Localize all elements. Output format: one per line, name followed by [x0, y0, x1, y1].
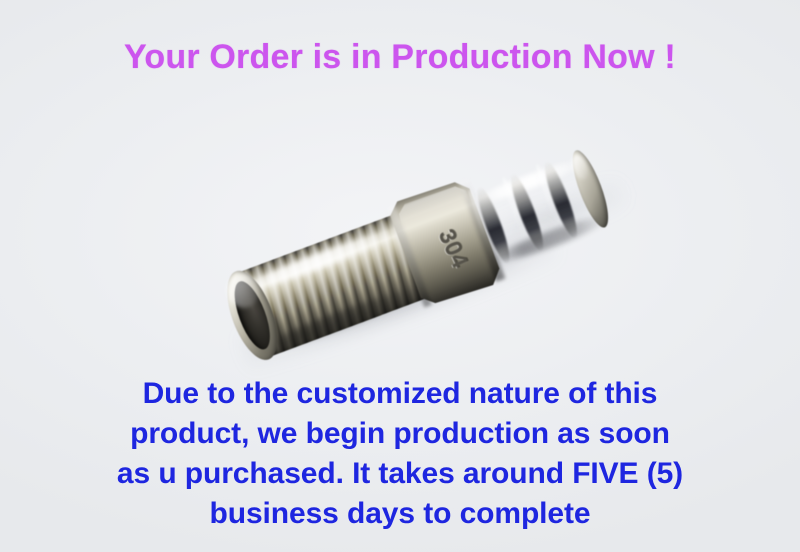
page-title: Your Order is in Production Now ! — [0, 38, 800, 77]
product-photo: 304 — [205, 142, 620, 370]
production-notice: Due to the customized nature of this pro… — [0, 374, 800, 534]
hose-barb-fitting: 304 — [226, 133, 612, 372]
notice-line-2: product, we begin production as soon — [0, 414, 800, 454]
notice-line-1: Due to the customized nature of this — [0, 374, 800, 414]
promo-banner: Your Order is in Production Now ! 304 — [0, 0, 800, 552]
material-stamp-text: 304 — [433, 225, 474, 272]
notice-line-3: as u purchased. It takes around FIVE (5) — [0, 454, 800, 494]
notice-line-4: business days to complete — [0, 494, 800, 534]
